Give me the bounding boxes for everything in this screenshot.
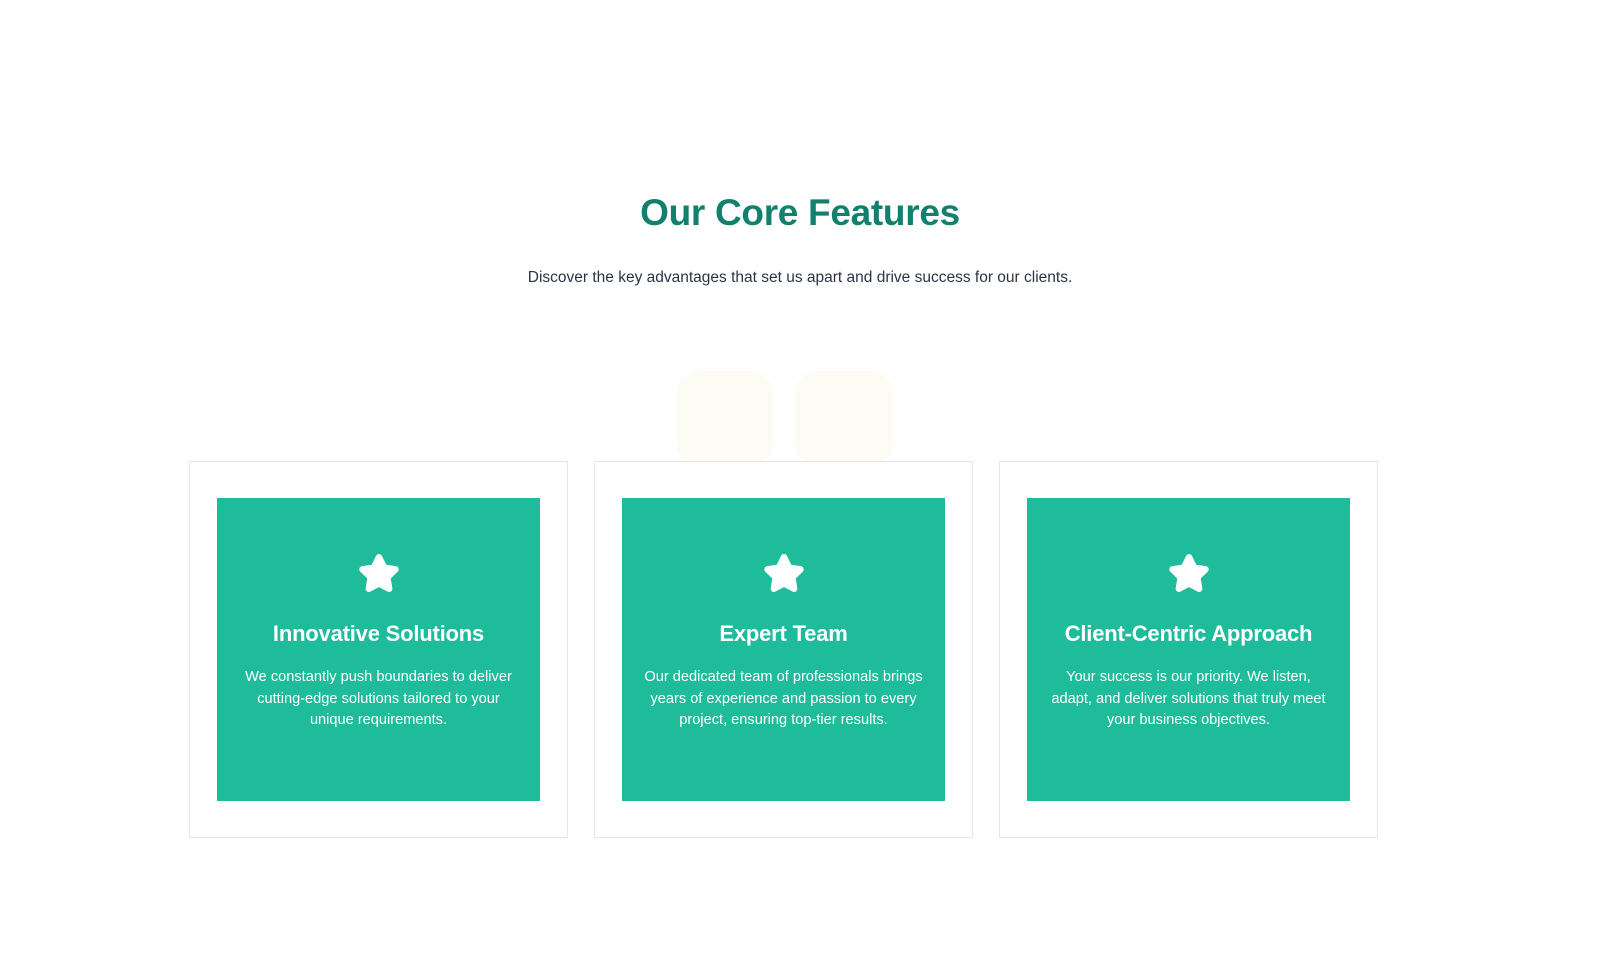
feature-card-title: Expert Team [719,619,847,648]
feature-card-description: We constantly push boundaries to deliver… [237,667,520,731]
section-subtitle: Discover the key advantages that set us … [0,266,1600,289]
feature-card-description: Your success is our priority. We listen,… [1047,667,1330,731]
star-icon [761,552,807,597]
cream-rounded-square-left-icon [677,371,773,466]
feature-card-panel: Innovative Solutions We constantly push … [217,498,540,801]
section-header: Our Core Features Discover the key advan… [0,190,1600,290]
features-section-page: Our Core Features Discover the key advan… [0,0,1600,978]
feature-card-panel: Expert Team Our dedicated team of profes… [622,498,945,801]
feature-card-list: Innovative Solutions We constantly push … [189,461,1379,838]
feature-card-description: Our dedicated team of professionals brin… [642,667,925,731]
feature-card-title: Client-Centric Approach [1065,619,1313,648]
page-title: Our Core Features [0,190,1600,236]
feature-card[interactable]: Expert Team Our dedicated team of profes… [594,461,973,838]
feature-card-panel: Client-Centric Approach Your success is … [1027,498,1350,801]
feature-card-title: Innovative Solutions [273,619,484,648]
star-icon [356,552,402,597]
feature-card[interactable]: Client-Centric Approach Your success is … [999,461,1378,838]
feature-card[interactable]: Innovative Solutions We constantly push … [189,461,568,838]
cream-rounded-square-right-icon [795,371,893,466]
star-icon [1166,552,1212,597]
